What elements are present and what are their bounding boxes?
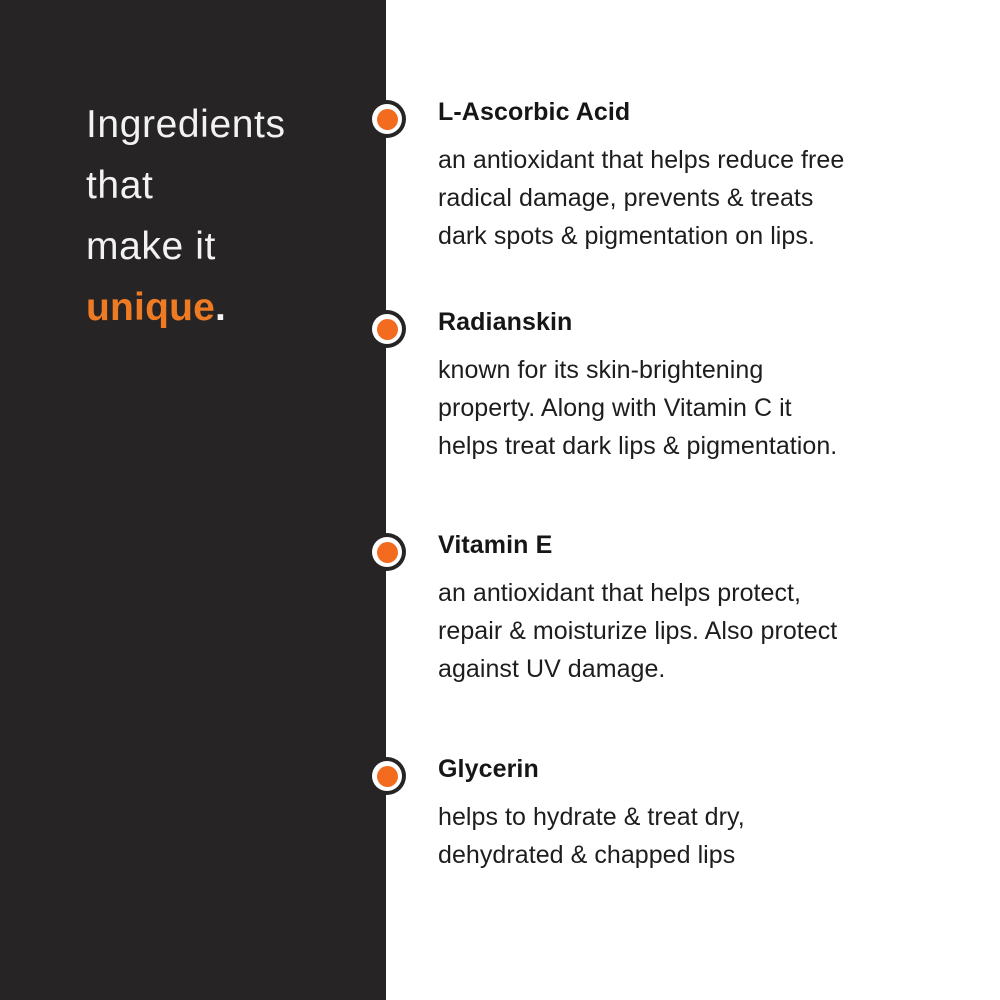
description-line: known for its skin-brightening — [438, 351, 968, 389]
ingredient-description: an antioxidant that helps protect, repai… — [438, 574, 968, 688]
orange-dot-bullet-icon — [368, 100, 406, 138]
bullet-core — [377, 542, 398, 563]
ingredient-description: known for its skin-brightening property.… — [438, 351, 968, 465]
bullet-core — [377, 766, 398, 787]
ingredient-name: Glycerin — [438, 753, 968, 785]
ingredient-description: helps to hydrate & treat dry, dehydrated… — [438, 798, 968, 874]
ingredient-description: an antioxidant that helps reduce free ra… — [438, 141, 968, 255]
ingredients-list: L-Ascorbic Acid an antioxidant that help… — [0, 0, 1000, 1000]
description-line: helps treat dark lips & pigmentation. — [438, 427, 968, 465]
bullet-core — [377, 319, 398, 340]
ingredient-text-block: Radianskin known for its skin-brightenin… — [438, 306, 968, 465]
description-line: an antioxidant that helps reduce free — [438, 141, 968, 179]
bullet-ring — [372, 761, 402, 791]
description-line: dehydrated & chapped lips — [438, 836, 968, 874]
bullet-ring — [372, 537, 402, 567]
ingredient-text-block: L-Ascorbic Acid an antioxidant that help… — [438, 96, 968, 255]
ingredient-name: Radianskin — [438, 306, 968, 338]
description-line: helps to hydrate & treat dry, — [438, 798, 968, 836]
description-line: an antioxidant that helps protect, — [438, 574, 968, 612]
description-line: radical damage, prevents & treats — [438, 179, 968, 217]
bullet-ring — [372, 314, 402, 344]
bullet-core — [377, 109, 398, 130]
description-line: repair & moisturize lips. Also protect — [438, 612, 968, 650]
ingredients-infographic: Ingredients that make it unique. L-Ascor… — [0, 0, 1000, 1000]
orange-dot-bullet-icon — [368, 757, 406, 795]
orange-dot-bullet-icon — [368, 310, 406, 348]
ingredient-name: L-Ascorbic Acid — [438, 96, 968, 128]
orange-dot-bullet-icon — [368, 533, 406, 571]
description-line: property. Along with Vitamin C it — [438, 389, 968, 427]
description-line: against UV damage. — [438, 650, 968, 688]
bullet-ring — [372, 104, 402, 134]
ingredient-text-block: Vitamin E an antioxidant that helps prot… — [438, 529, 968, 688]
description-line: dark spots & pigmentation on lips. — [438, 217, 968, 255]
ingredient-text-block: Glycerin helps to hydrate & treat dry, d… — [438, 753, 968, 874]
ingredient-name: Vitamin E — [438, 529, 968, 561]
